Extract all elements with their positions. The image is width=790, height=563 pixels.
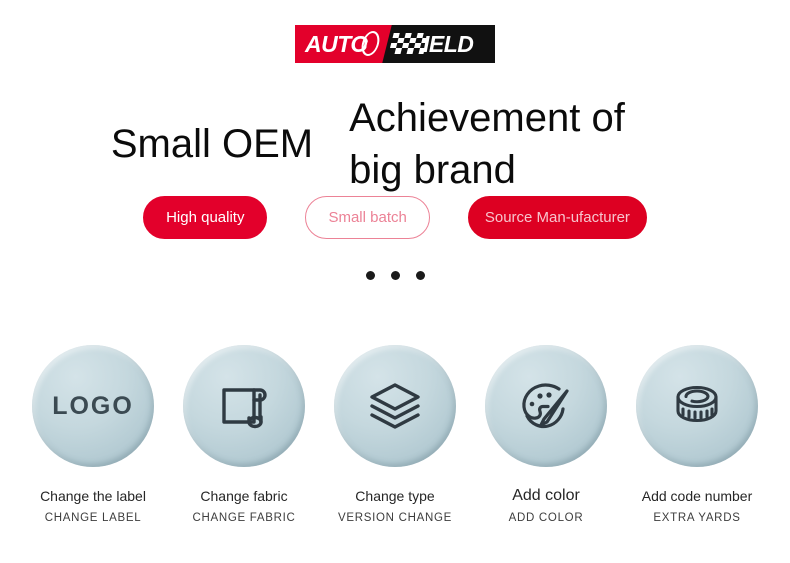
feature-icon-circle bbox=[485, 345, 607, 467]
logo-auto-text: AUTO bbox=[305, 31, 368, 57]
layers-icon bbox=[364, 375, 426, 437]
feature-icon-circle bbox=[636, 345, 758, 467]
feature-subtitle: ADD COLOR bbox=[509, 512, 584, 524]
logo-header: AUTO IELD bbox=[0, 25, 790, 63]
logo-text-icon: LOGO bbox=[52, 392, 134, 421]
feature-subtitle: CHANGE LABEL bbox=[45, 512, 142, 524]
pill-small-batch[interactable]: Small batch bbox=[305, 196, 429, 239]
carousel-dot-1[interactable] bbox=[366, 271, 375, 280]
feature-subtitle: CHANGE FABRIC bbox=[192, 512, 295, 524]
carousel-dot-2[interactable] bbox=[391, 271, 400, 280]
feature-item-add-color[interactable]: Add color ADD COLOR bbox=[485, 345, 607, 524]
headline-right-text: Achievement of big brand bbox=[349, 92, 679, 196]
feature-title: Add color bbox=[512, 488, 580, 504]
feature-item-extra-yards[interactable]: Add code number EXTRA YARDS bbox=[636, 345, 758, 524]
carousel-dots bbox=[0, 271, 790, 280]
feature-subtitle: VERSION CHANGE bbox=[338, 512, 452, 524]
palette-icon bbox=[515, 375, 577, 437]
pill-source-manufacturer[interactable]: Source Man-ufacturer bbox=[468, 196, 647, 239]
feature-item-change-type[interactable]: Change type VERSION CHANGE bbox=[334, 345, 456, 524]
feature-title: Change the label bbox=[40, 488, 146, 504]
feature-title: Add code number bbox=[642, 488, 753, 504]
fabric-roll-icon bbox=[214, 376, 274, 436]
feature-title: Change type bbox=[355, 488, 434, 504]
feature-list: LOGO Change the label CHANGE LABEL Chang… bbox=[0, 345, 790, 524]
autoshield-logo[interactable]: AUTO IELD bbox=[295, 25, 495, 63]
page-root: AUTO IELD bbox=[0, 0, 790, 563]
carousel-dot-3[interactable] bbox=[416, 271, 425, 280]
headline-left-text: Small OEM bbox=[111, 92, 313, 170]
feature-item-change-fabric[interactable]: Change fabric CHANGE FABRIC bbox=[183, 345, 305, 524]
logo-ield-text: IELD bbox=[423, 31, 473, 57]
hero-headline: Small OEM Achievement of big brand bbox=[0, 92, 790, 196]
feature-title: Change fabric bbox=[200, 488, 287, 504]
feature-icon-circle: LOGO bbox=[32, 345, 154, 467]
feature-icon-circle bbox=[334, 345, 456, 467]
measuring-tape-icon bbox=[666, 375, 728, 437]
pill-high-quality[interactable]: High quality bbox=[143, 196, 267, 239]
feature-icon-circle bbox=[183, 345, 305, 467]
feature-item-change-label[interactable]: LOGO Change the label CHANGE LABEL bbox=[32, 345, 154, 524]
feature-subtitle: EXTRA YARDS bbox=[653, 512, 740, 524]
feature-pill-group: High quality Small batch Source Man-ufac… bbox=[0, 196, 790, 239]
